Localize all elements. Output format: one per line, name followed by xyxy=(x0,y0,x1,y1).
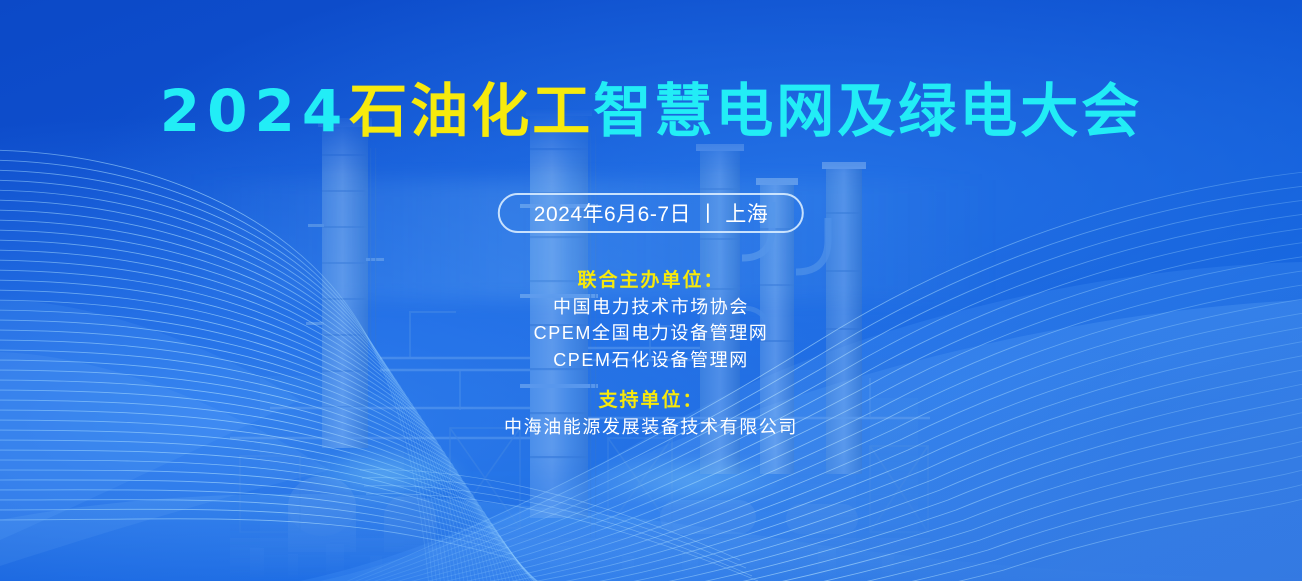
title-rest: 智慧电网及绿电大会 xyxy=(593,79,1142,144)
organizers-block: 联合主办单位： 中国电力技术市场协会 CPEM全国电力设备管理网 CPEM石化设… xyxy=(0,268,1302,374)
banner-content: 2024石油化工智慧电网及绿电大会 2024年6月6-7日 丨 上海 联合主办单… xyxy=(0,0,1302,581)
date-location-badge: 2024年6月6-7日 丨 上海 xyxy=(498,193,804,233)
supporters-block: 支持单位： 中海油能源发展装备技术有限公司 xyxy=(0,388,1302,441)
conference-banner: 2024石油化工智慧电网及绿电大会 2024年6月6-7日 丨 上海 联合主办单… xyxy=(0,0,1302,581)
organizer-item: 中国电力技术市场协会 xyxy=(0,294,1302,321)
organizer-item: CPEM石化设备管理网 xyxy=(0,347,1302,374)
supporters-heading: 支持单位： xyxy=(0,388,1302,414)
page-title: 2024石油化工智慧电网及绿电大会 xyxy=(0,82,1302,141)
organizers-heading: 联合主办单位： xyxy=(0,268,1302,294)
date-location-text: 2024年6月6-7日 丨 上海 xyxy=(534,198,768,228)
organizer-item: CPEM全国电力设备管理网 xyxy=(0,320,1302,347)
title-year: 2024 xyxy=(160,77,349,145)
supporter-item: 中海油能源发展装备技术有限公司 xyxy=(0,414,1302,441)
title-highlight: 石油化工 xyxy=(349,79,593,144)
